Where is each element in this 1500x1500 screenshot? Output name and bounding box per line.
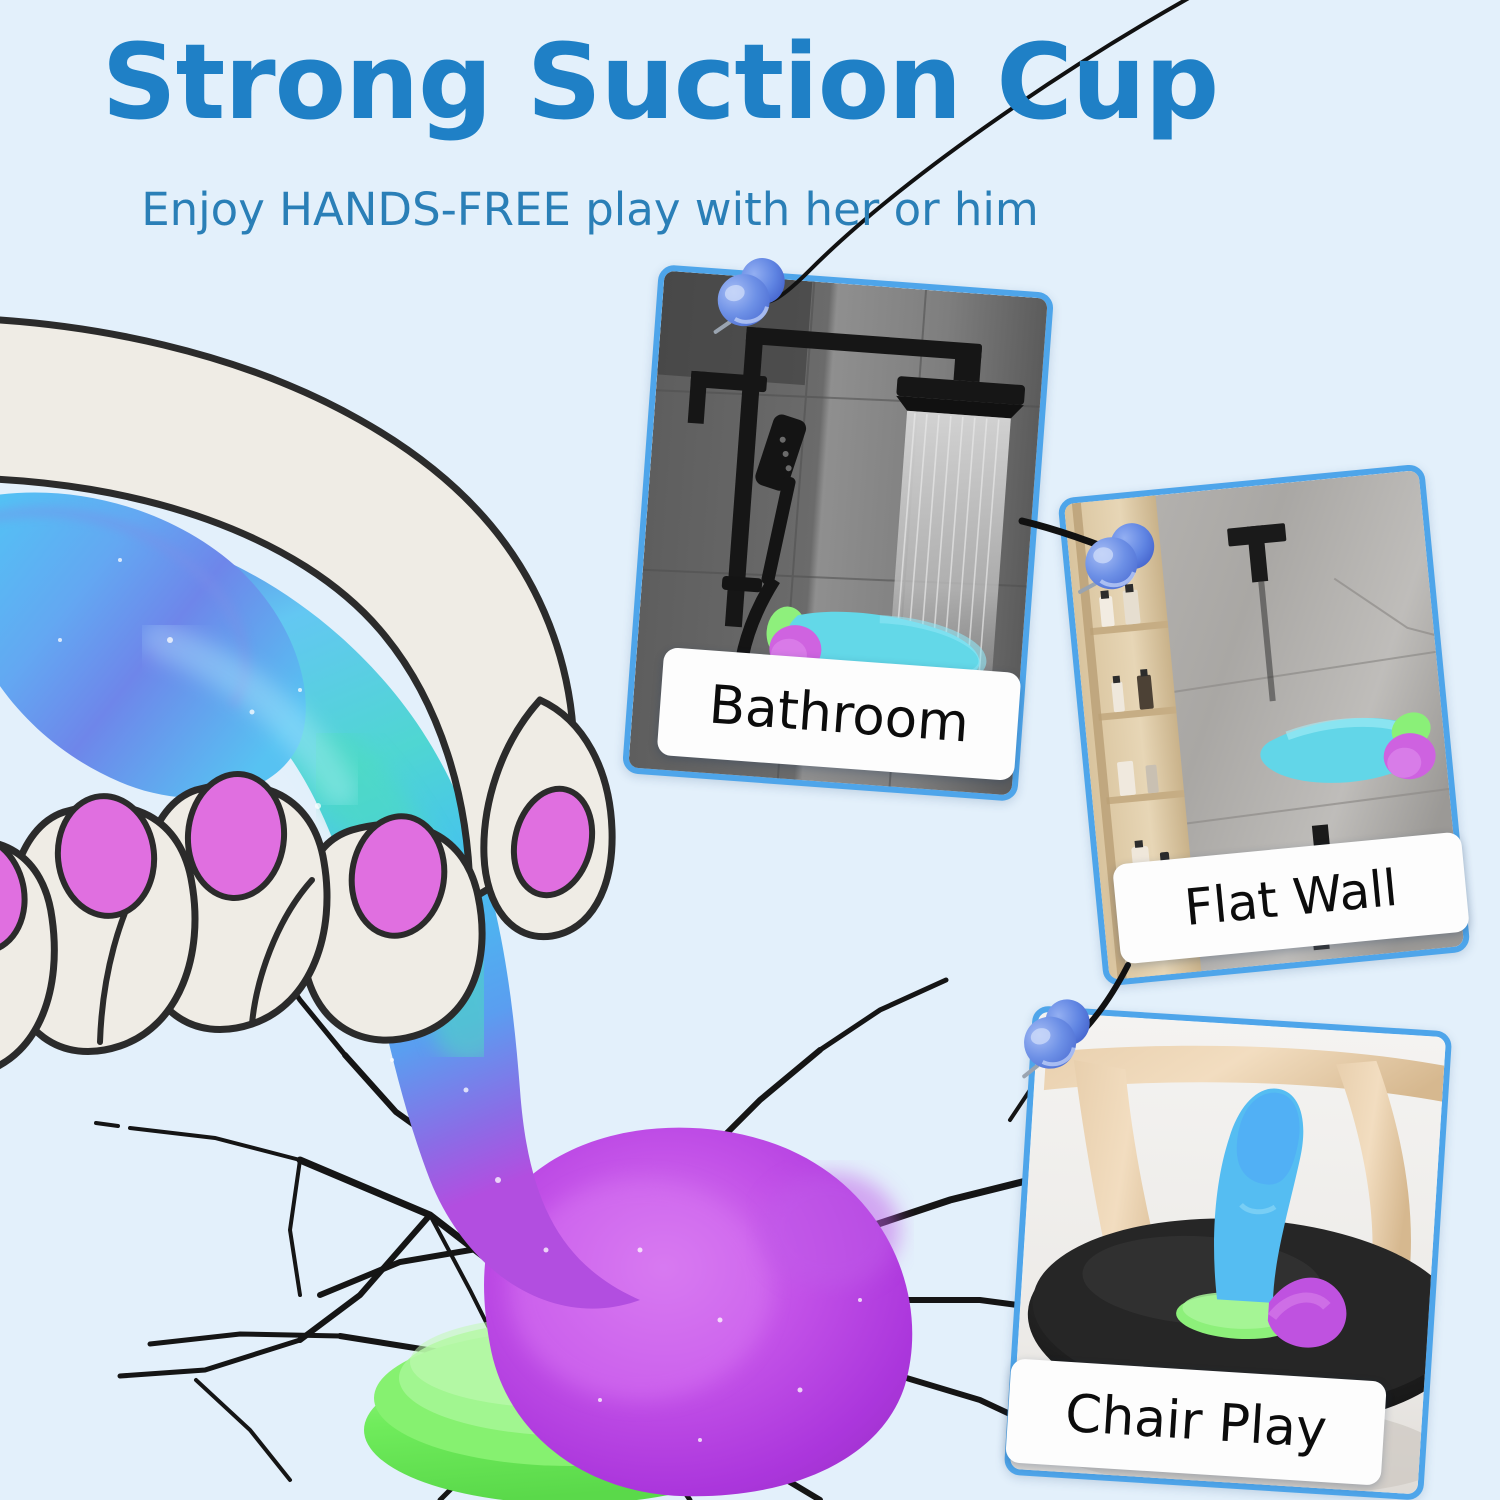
pushpin-icon (1069, 516, 1171, 604)
card-label-text: Flat Wall (1182, 859, 1400, 937)
card-label-text: Chair Play (1063, 1384, 1328, 1460)
page-title: Strong Suction Cup (0, 28, 1320, 137)
page-subtitle: Enjoy HANDS-FREE play with her or him (0, 185, 1180, 235)
promo-canvas: Strong Suction Cup Enjoy HANDS-FREE play… (0, 0, 1500, 1500)
card-label-text: Bathroom (707, 674, 971, 754)
